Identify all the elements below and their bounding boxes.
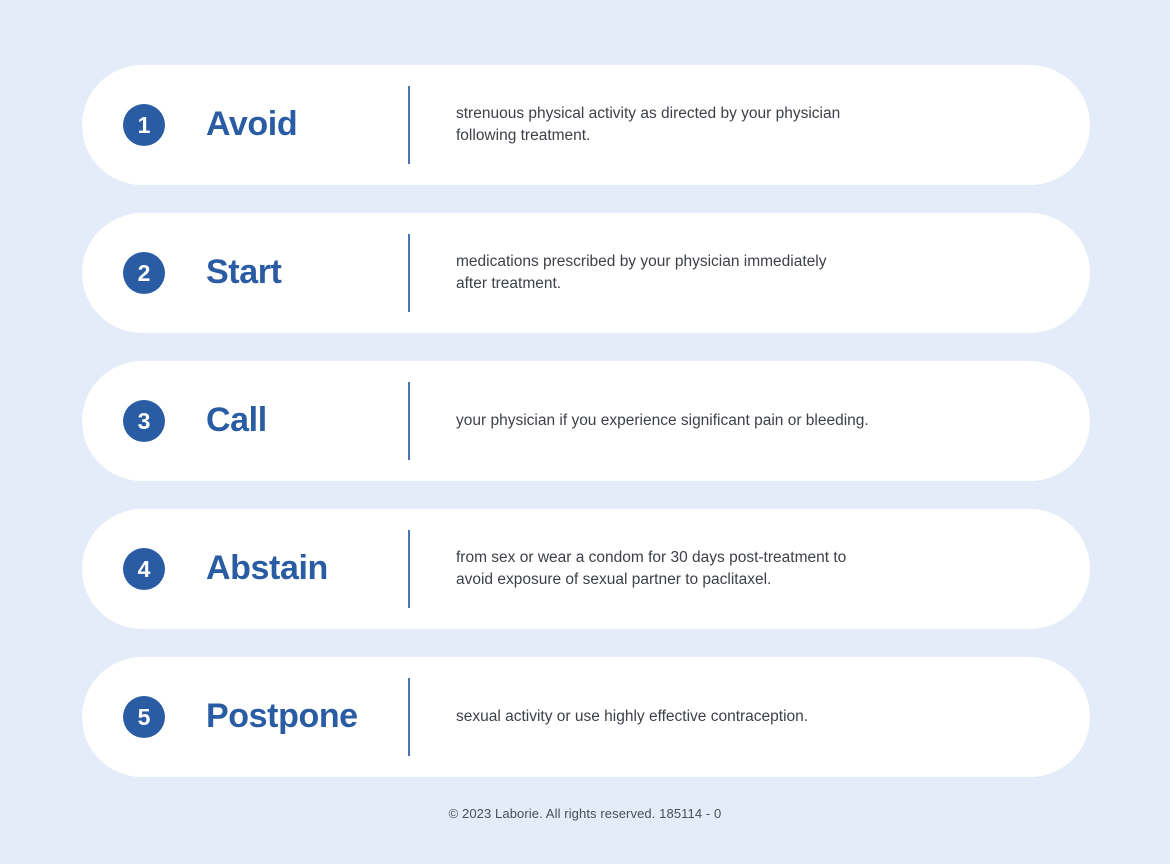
- footer-copyright: © 2023 Laborie. All rights reserved. 185…: [0, 806, 1170, 821]
- instruction-card: 1Avoidstrenuous physical activity as dir…: [82, 65, 1090, 185]
- step-badge-container: 5: [82, 696, 206, 738]
- instruction-sheet: 1Avoidstrenuous physical activity as dir…: [0, 0, 1170, 864]
- instruction-card-list: 1Avoidstrenuous physical activity as dir…: [82, 65, 1090, 805]
- instruction-body: your physician if you experience signifi…: [410, 410, 1090, 432]
- instruction-body: from sex or wear a condom for 30 days po…: [410, 547, 1090, 591]
- step-badge-container: 4: [82, 548, 206, 590]
- instruction-card: 2Startmedications prescribed by your phy…: [82, 213, 1090, 333]
- instruction-card: 4Abstainfrom sex or wear a condom for 30…: [82, 509, 1090, 629]
- instruction-body-line: medications prescribed by your physician…: [456, 251, 1050, 273]
- step-number-badge: 2: [123, 252, 165, 294]
- instruction-body: sexual activity or use highly effective …: [410, 706, 1090, 728]
- step-badge-container: 1: [82, 104, 206, 146]
- instruction-body-line: your physician if you experience signifi…: [456, 410, 1050, 432]
- instruction-body-line: from sex or wear a condom for 30 days po…: [456, 547, 1050, 569]
- instruction-body-line: after treatment.: [456, 273, 1050, 295]
- instruction-heading: Start: [206, 255, 406, 291]
- instruction-card: 5Postponesexual activity or use highly e…: [82, 657, 1090, 777]
- instruction-heading: Avoid: [206, 107, 406, 143]
- instruction-card: 3Callyour physician if you experience si…: [82, 361, 1090, 481]
- step-badge-container: 3: [82, 400, 206, 442]
- instruction-body-line: avoid exposure of sexual partner to pacl…: [456, 569, 1050, 591]
- step-number-badge: 4: [123, 548, 165, 590]
- step-number-badge: 1: [123, 104, 165, 146]
- step-badge-container: 2: [82, 252, 206, 294]
- instruction-heading: Abstain: [206, 551, 406, 587]
- instruction-body-line: sexual activity or use highly effective …: [456, 706, 1050, 728]
- step-number-badge: 3: [123, 400, 165, 442]
- instruction-body-line: strenuous physical activity as directed …: [456, 103, 1050, 125]
- instruction-heading: Call: [206, 403, 406, 439]
- instruction-body-line: following treatment.: [456, 125, 1050, 147]
- instruction-heading: Postpone: [206, 699, 406, 735]
- step-number-badge: 5: [123, 696, 165, 738]
- instruction-body: strenuous physical activity as directed …: [410, 103, 1090, 147]
- instruction-body: medications prescribed by your physician…: [410, 251, 1090, 295]
